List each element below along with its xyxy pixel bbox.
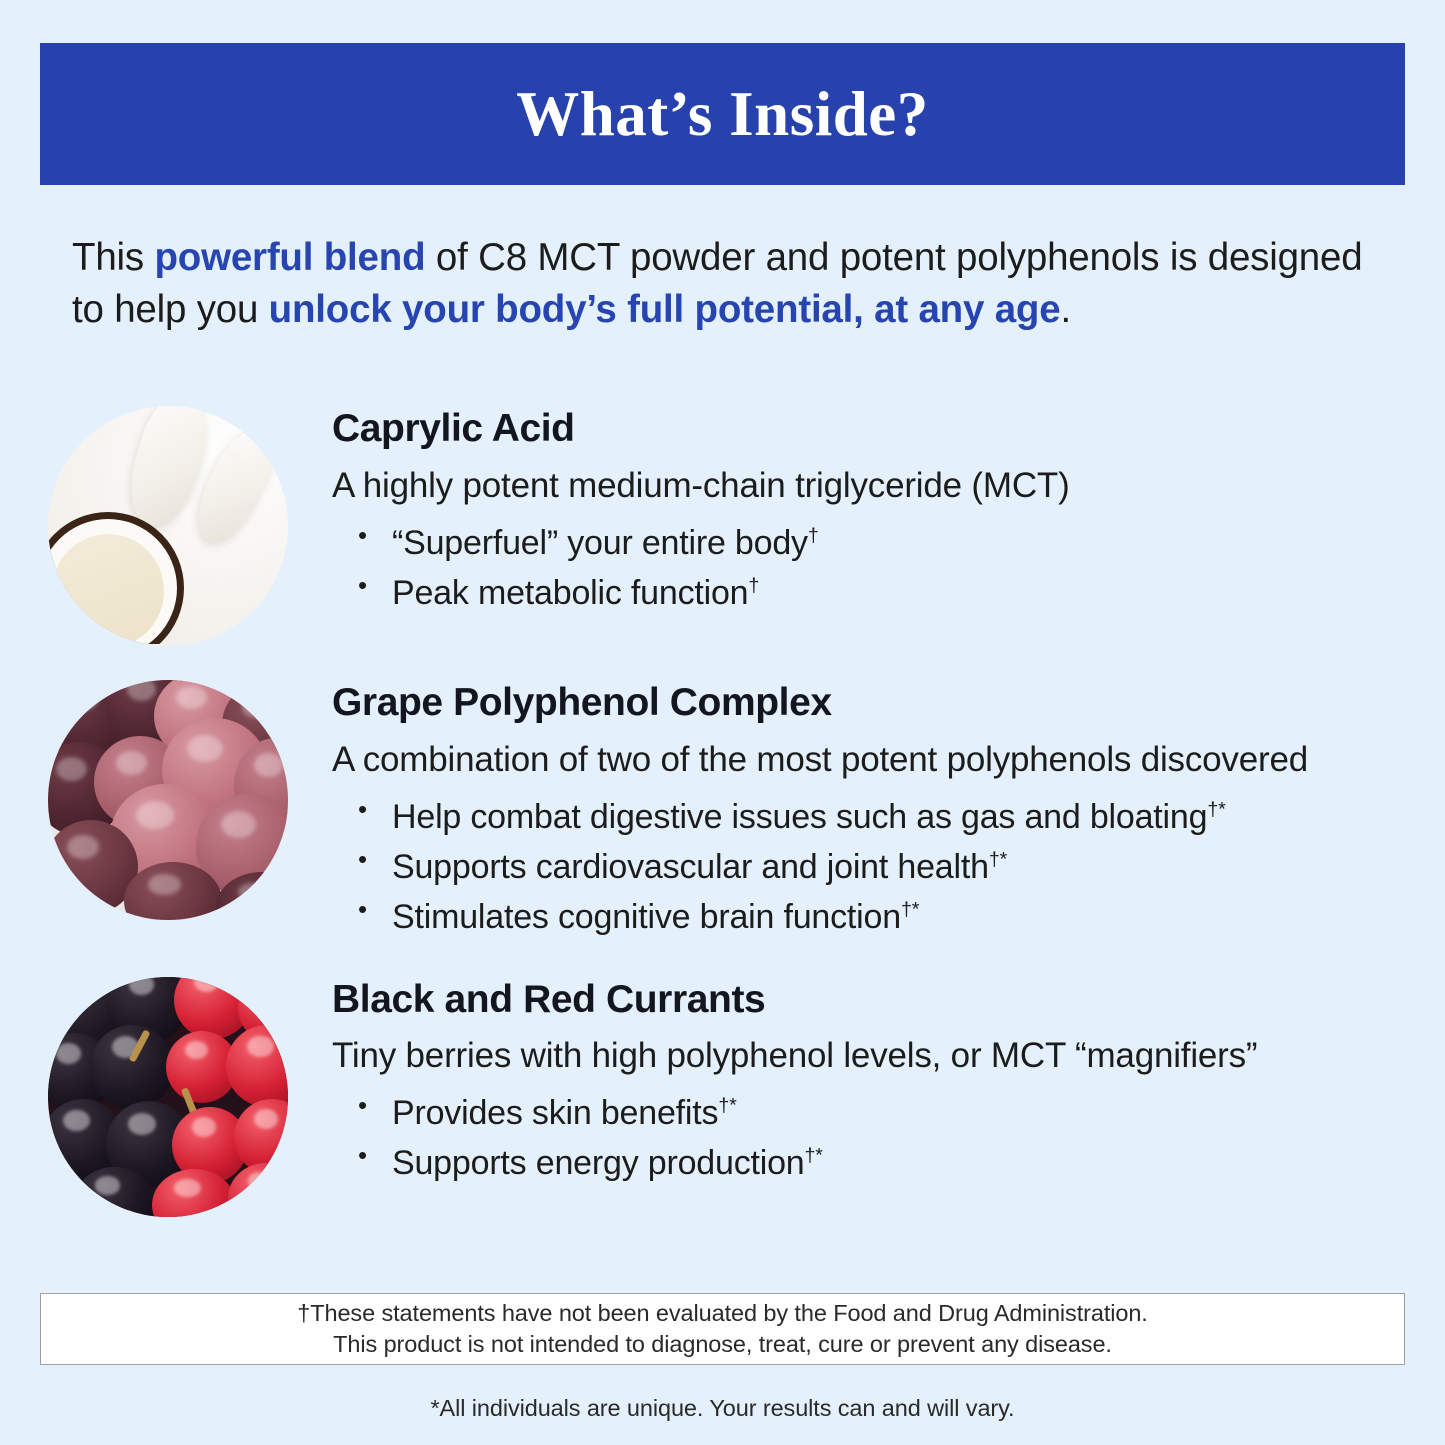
benefit-item: “Superfuel” your entire body† (354, 518, 1445, 568)
ingredient-benefits: “Superfuel” your entire body† Peak metab… (332, 518, 1445, 619)
intro-highlight-1: powerful blend (154, 236, 425, 279)
ingredient-row: Grape Polyphenol Complex A combination o… (0, 674, 1445, 943)
benefit-text: “Superfuel” your entire body (392, 524, 808, 562)
benefit-item: Supports energy production†* (354, 1138, 1445, 1188)
footnote-marker: †* (1207, 798, 1225, 820)
footnote-marker: †* (989, 849, 1007, 871)
ingredient-benefits: Provides skin benefits†* Supports energy… (332, 1088, 1445, 1189)
fda-disclaimer-line-1: †These statements have not been evaluate… (297, 1298, 1148, 1329)
footnote-marker: †* (805, 1145, 823, 1167)
benefit-item: Supports cardiovascular and joint health… (354, 842, 1445, 892)
intro-highlight-2: unlock your body’s full potential, at an… (269, 288, 1061, 331)
benefit-item: Help combat digestive issues such as gas… (354, 792, 1445, 842)
header-band: What’s Inside? (40, 43, 1405, 185)
fda-disclaimer-line-2: This product is not intended to diagnose… (333, 1329, 1112, 1360)
coconut-photo (48, 406, 288, 646)
results-disclaimer: *All individuals are unique. Your result… (0, 1395, 1445, 1422)
benefit-item: Provides skin benefits†* (354, 1088, 1445, 1138)
ingredient-description: A highly potent medium-chain triglycerid… (332, 465, 1445, 508)
ingredient-description: Tiny berries with high polyphenol levels… (332, 1035, 1445, 1078)
footnote-marker: †* (901, 899, 919, 921)
ingredient-benefits: Help combat digestive issues such as gas… (332, 792, 1445, 943)
benefit-text: Provides skin benefits (392, 1094, 718, 1132)
currants-photo (48, 977, 288, 1217)
benefit-text: Peak metabolic function (392, 574, 748, 612)
ingredient-row: Caprylic Acid A highly potent medium-cha… (0, 400, 1445, 646)
fda-disclaimer-box: †These statements have not been evaluate… (40, 1293, 1405, 1365)
footnote-marker: † (748, 575, 759, 597)
benefit-item: Peak metabolic function† (354, 568, 1445, 618)
intro-text-part-3: . (1060, 288, 1071, 331)
benefit-text: Stimulates cognitive brain function (392, 898, 901, 936)
benefit-text: Help combat digestive issues such as gas… (392, 798, 1207, 836)
intro-paragraph: This powerful blend of C8 MCT powder and… (72, 232, 1372, 335)
ingredient-title: Black and Red Currants (332, 979, 1445, 1022)
page-title: What’s Inside? (516, 83, 929, 146)
footnote-marker: † (808, 524, 819, 546)
ingredient-row: Black and Red Currants Tiny berries with… (0, 971, 1445, 1217)
benefit-text: Supports energy production (392, 1144, 805, 1182)
ingredient-title: Grape Polyphenol Complex (332, 682, 1445, 725)
ingredient-body: Grape Polyphenol Complex A combination o… (332, 674, 1445, 943)
footnote-marker: †* (718, 1095, 736, 1117)
benefit-text: Supports cardiovascular and joint health (392, 848, 989, 886)
ingredient-body: Black and Red Currants Tiny berries with… (332, 971, 1445, 1189)
grapes-photo (48, 680, 288, 920)
ingredient-description: A combination of two of the most potent … (332, 739, 1445, 782)
ingredient-body: Caprylic Acid A highly potent medium-cha… (332, 400, 1445, 618)
ingredient-title: Caprylic Acid (332, 408, 1445, 451)
ingredient-list: Caprylic Acid A highly potent medium-cha… (0, 400, 1445, 1245)
intro-text-part-1: This (72, 236, 154, 279)
benefit-item: Stimulates cognitive brain function†* (354, 892, 1445, 942)
